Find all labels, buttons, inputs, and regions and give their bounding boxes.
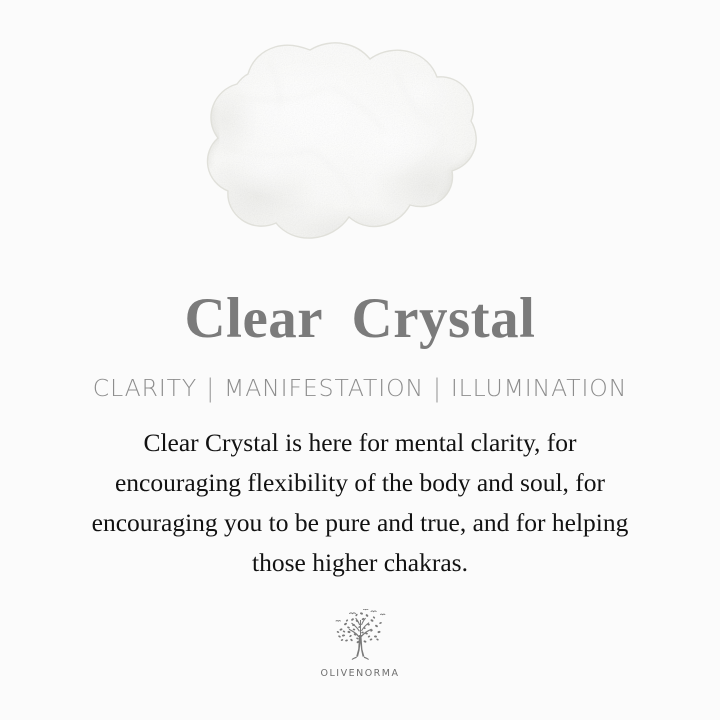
keyword-separator: |: [424, 373, 451, 402]
brand-logo: OLIVENORMA: [321, 609, 400, 679]
clear-quartz-crystal-specimen: [0, 0, 720, 285]
crystal-info-card: Clear Crystal CLARITY | MANIFESTATION | …: [0, 0, 720, 720]
keyword-separator: |: [197, 373, 224, 402]
crystal-image-container: [0, 0, 720, 285]
keyword-illumination: ILLUMINATION: [451, 374, 627, 402]
description-text: Clear Crystal is here for mental clarity…: [40, 423, 680, 583]
description-line: encouraging you to be pure and true, and…: [40, 503, 680, 543]
description-line: encouraging flexibility of the body and …: [40, 463, 680, 503]
brand-wordmark: OLIVENORMA: [321, 668, 400, 679]
description-line: Clear Crystal is here for mental clarity…: [40, 423, 680, 463]
keyword-manifestation: MANIFESTATION: [224, 374, 424, 402]
page-title: Clear Crystal: [184, 285, 535, 351]
keyword-list: CLARITY | MANIFESTATION | ILLUMINATION: [93, 373, 627, 403]
description-line: those higher chakras.: [40, 543, 680, 583]
keyword-clarity: CLARITY: [93, 374, 197, 402]
olive-tree-icon: [327, 609, 393, 665]
